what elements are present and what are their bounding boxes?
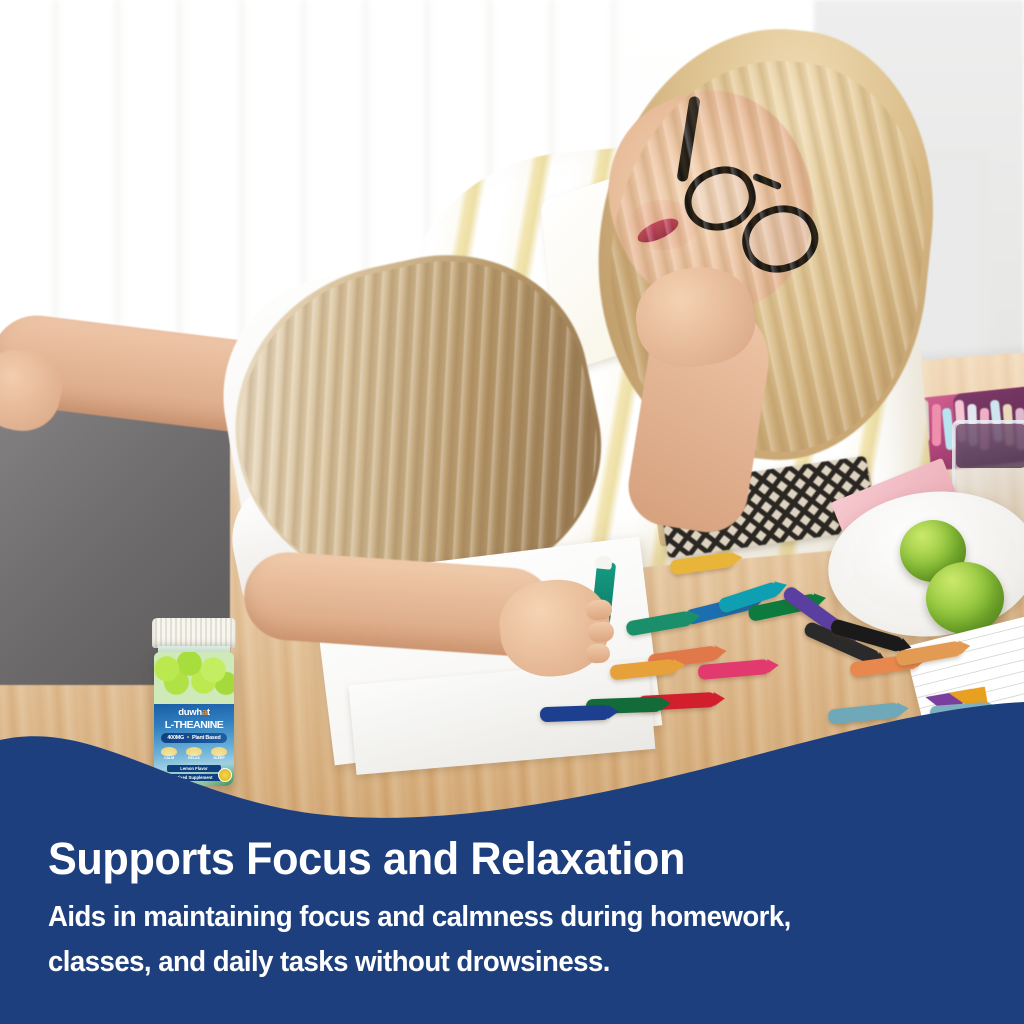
tumbler-liquid — [956, 424, 1024, 468]
marker-cap — [594, 555, 612, 570]
green-apple-2 — [926, 562, 1004, 634]
product-marketing-image: duwhat L-THEANINE 400MG • Plant Based CA… — [0, 0, 1024, 1024]
marker-pen — [932, 404, 941, 446]
lifestyle-photo: duwhat L-THEANINE 400MG • Plant Based CA… — [0, 0, 1024, 820]
promo-banner: Supports Focus and Relaxation Aids in ma… — [0, 700, 1024, 1024]
subline-2: classes, and daily tasks without drowsin… — [48, 946, 960, 979]
headline: Supports Focus and Relaxation — [48, 833, 685, 885]
girl-finger-3 — [586, 644, 611, 664]
bottle-cap — [152, 618, 236, 648]
banner-text-group: Supports Focus and Relaxation Aids in ma… — [0, 700, 1024, 1024]
subline-1: Aids in maintaining focus and calmness d… — [48, 901, 960, 934]
